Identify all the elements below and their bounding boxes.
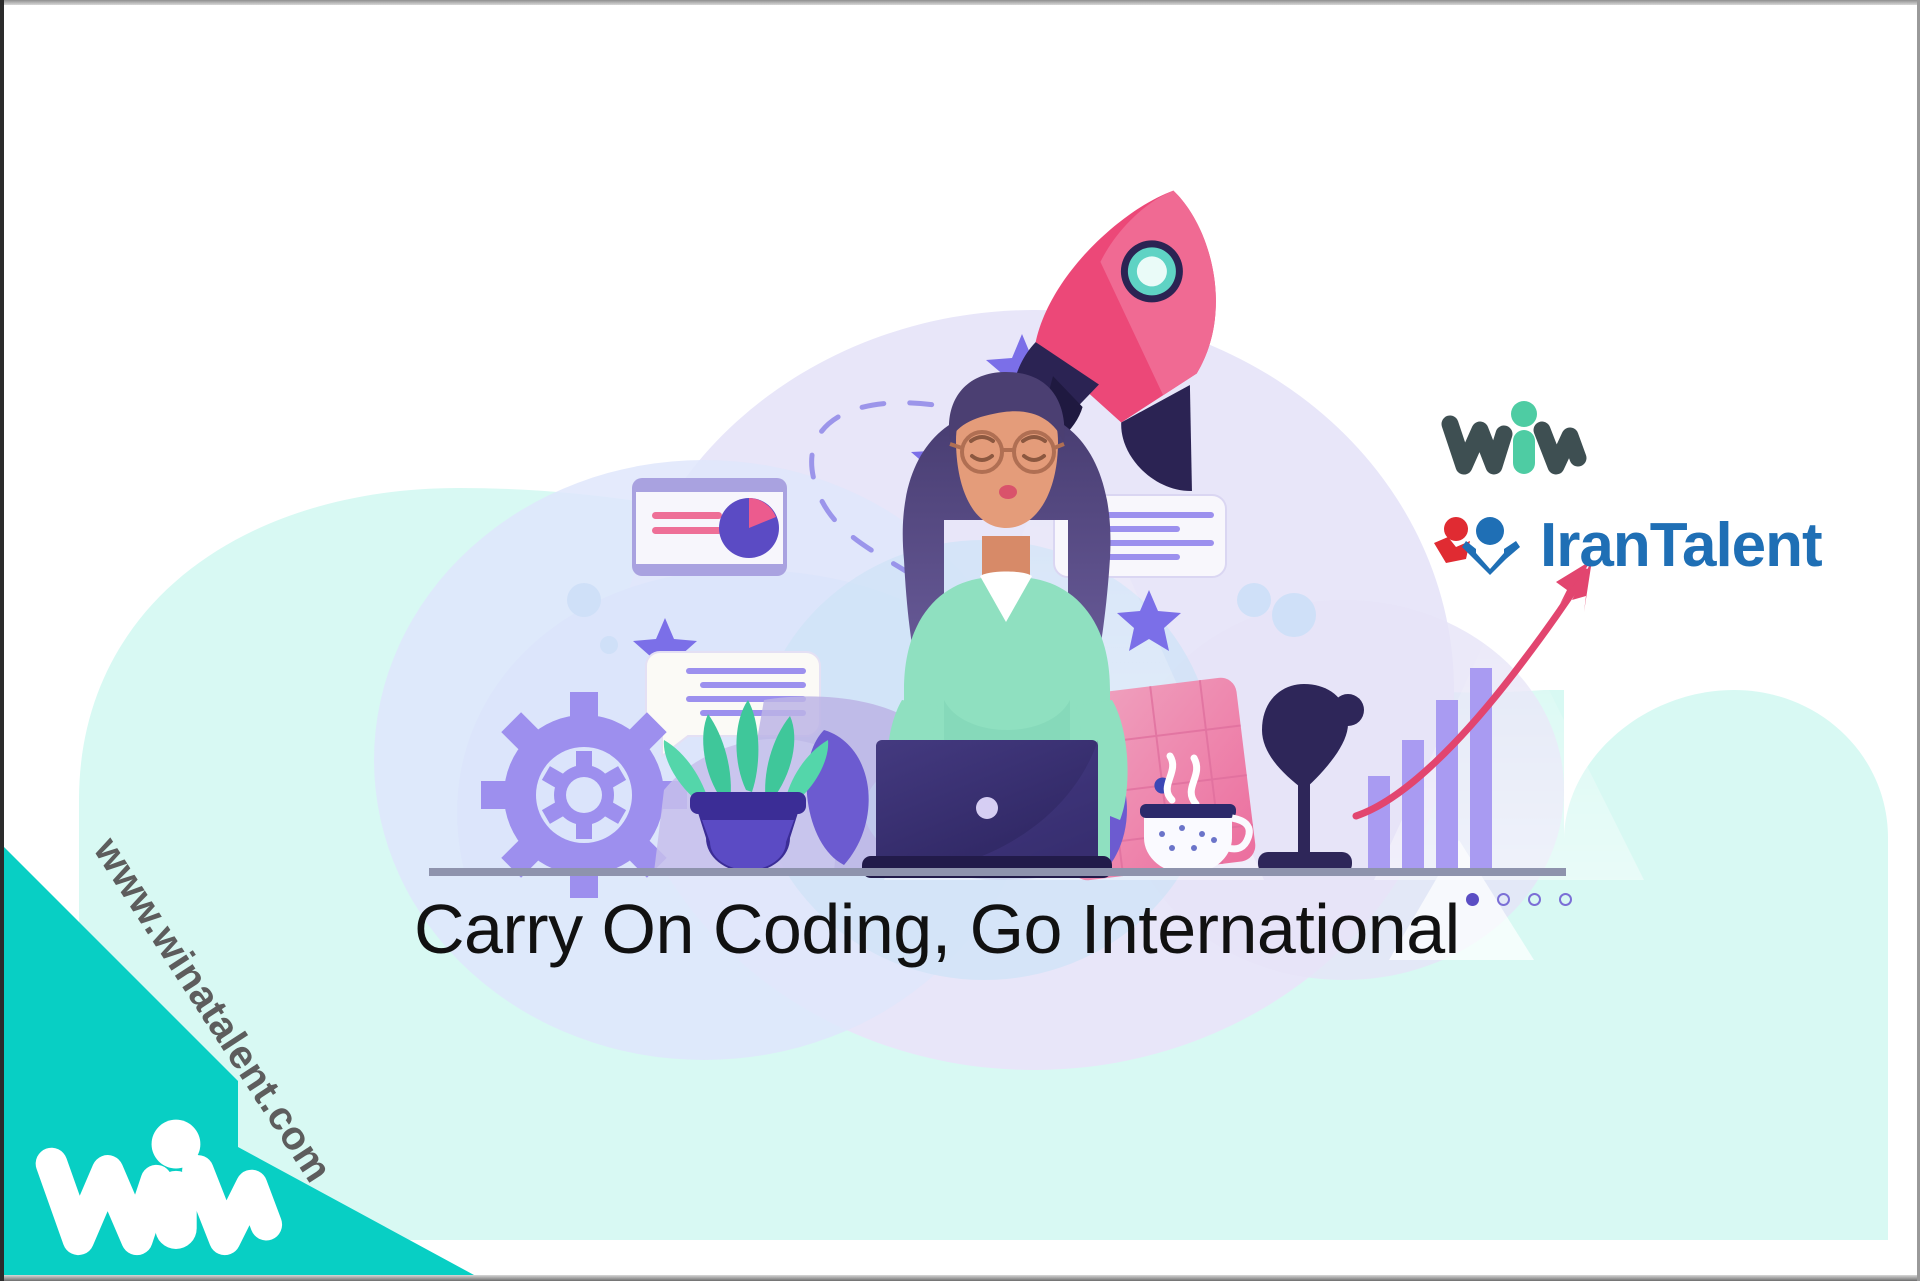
pie-chart-card [632, 478, 787, 576]
irantalent-people-icon [1432, 515, 1524, 577]
carousel-dot-3[interactable] [1528, 893, 1541, 906]
carousel-dot-4[interactable] [1559, 893, 1572, 906]
laptop-icon [862, 740, 1112, 878]
carousel-dot-2[interactable] [1497, 893, 1510, 906]
brand-logos: IranTalent [1432, 400, 1852, 577]
carousel-dots[interactable] [1466, 893, 1572, 906]
page-title: Carry On Coding, Go International [414, 893, 1594, 967]
irantalent-wordmark: IranTalent [1540, 515, 1822, 577]
illustration-canvas [4, 0, 1920, 1281]
irantalent-logo: IranTalent [1432, 515, 1852, 577]
carousel-dot-1[interactable] [1466, 893, 1479, 906]
win-logo-icon [1438, 400, 1588, 478]
banner-canvas: Carry On Coding, Go International IranTa… [0, 0, 1920, 1281]
